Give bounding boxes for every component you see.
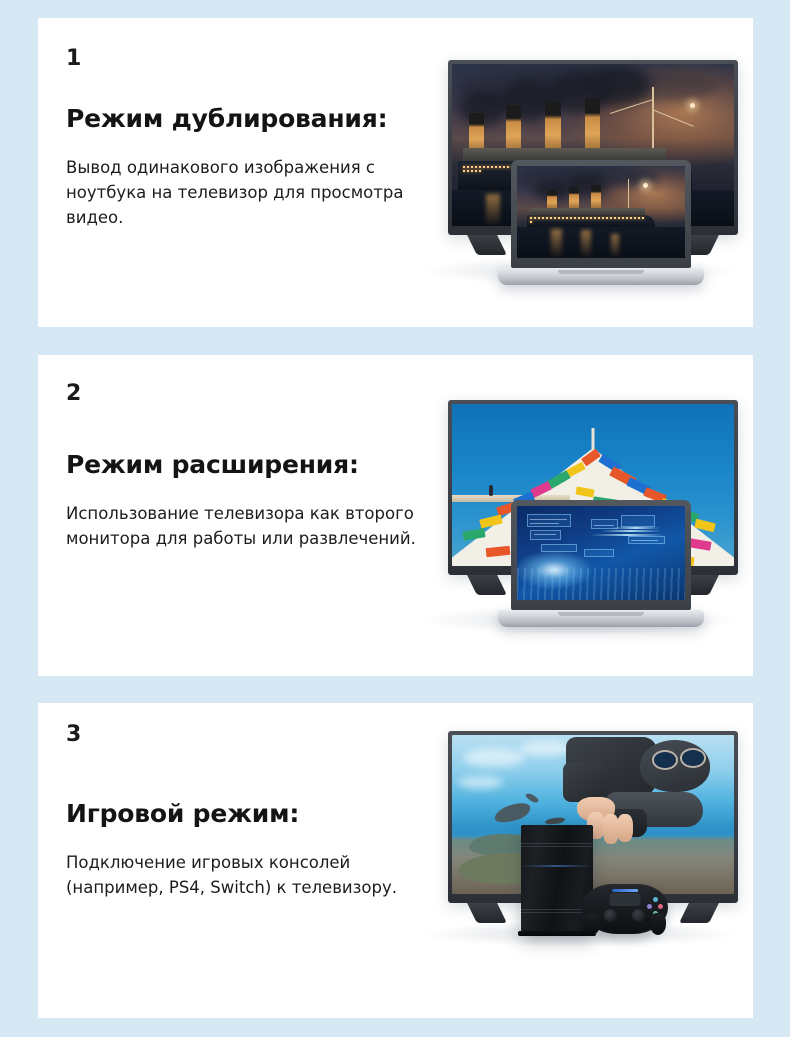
- illustration-gaming: [410, 703, 753, 1018]
- dualshock-controller: [582, 884, 668, 934]
- tv-bezel: [448, 731, 738, 903]
- scene-titanic-laptop: [517, 166, 685, 258]
- card-text-column: 2 Режим расширения: Использование телеви…: [66, 355, 421, 551]
- laptop-lid: [511, 500, 691, 610]
- controller-body: [582, 884, 668, 934]
- step-number: 2: [66, 381, 421, 406]
- laptop-trackpad-notch: [558, 612, 644, 616]
- illustration-mirroring: [410, 18, 753, 327]
- feature-card-extended: 2 Режим расширения: Использование телеви…: [38, 355, 753, 676]
- card-title: Режим расширения:: [66, 450, 421, 479]
- laptop-device: [511, 160, 691, 288]
- scene-tech-wallpaper: [517, 506, 685, 600]
- controller-touchpad: [610, 893, 641, 906]
- scene-skydiving-game: [452, 735, 734, 894]
- controller-light-bar: [612, 889, 638, 892]
- illustration-extended: [410, 355, 753, 676]
- laptop-base: [498, 610, 704, 627]
- card-title: Игровой режим:: [66, 799, 421, 828]
- step-number: 3: [66, 722, 421, 747]
- card-text-column: 3 Игровой режим: Подключение игровых кон…: [66, 703, 421, 900]
- card-description: Использование телевизора как второго мон…: [66, 501, 421, 551]
- laptop-screen: [517, 166, 685, 258]
- card-text-column: 1 Режим дублирования: Вывод одинакового …: [66, 18, 421, 230]
- laptop-trackpad-notch: [558, 270, 644, 274]
- card-title: Режим дублирования:: [66, 104, 421, 133]
- laptop-base: [498, 268, 704, 285]
- laptop-device: [511, 500, 691, 628]
- feature-card-gaming: 3 Игровой режим: Подключение игровых кон…: [38, 703, 753, 1018]
- tv-screen: [452, 735, 734, 894]
- feature-card-mirroring: 1 Режим дублирования: Вывод одинакового …: [38, 18, 753, 327]
- step-number: 1: [66, 46, 421, 71]
- tv-device: [448, 731, 738, 903]
- laptop-lid: [511, 160, 691, 268]
- laptop-screen: [517, 506, 685, 600]
- card-description: Вывод одинакового изображения с ноутбука…: [66, 155, 421, 230]
- promo-page: 1 Режим дублирования: Вывод одинакового …: [0, 0, 790, 1037]
- card-description: Подключение игровых консолей (например, …: [66, 850, 421, 900]
